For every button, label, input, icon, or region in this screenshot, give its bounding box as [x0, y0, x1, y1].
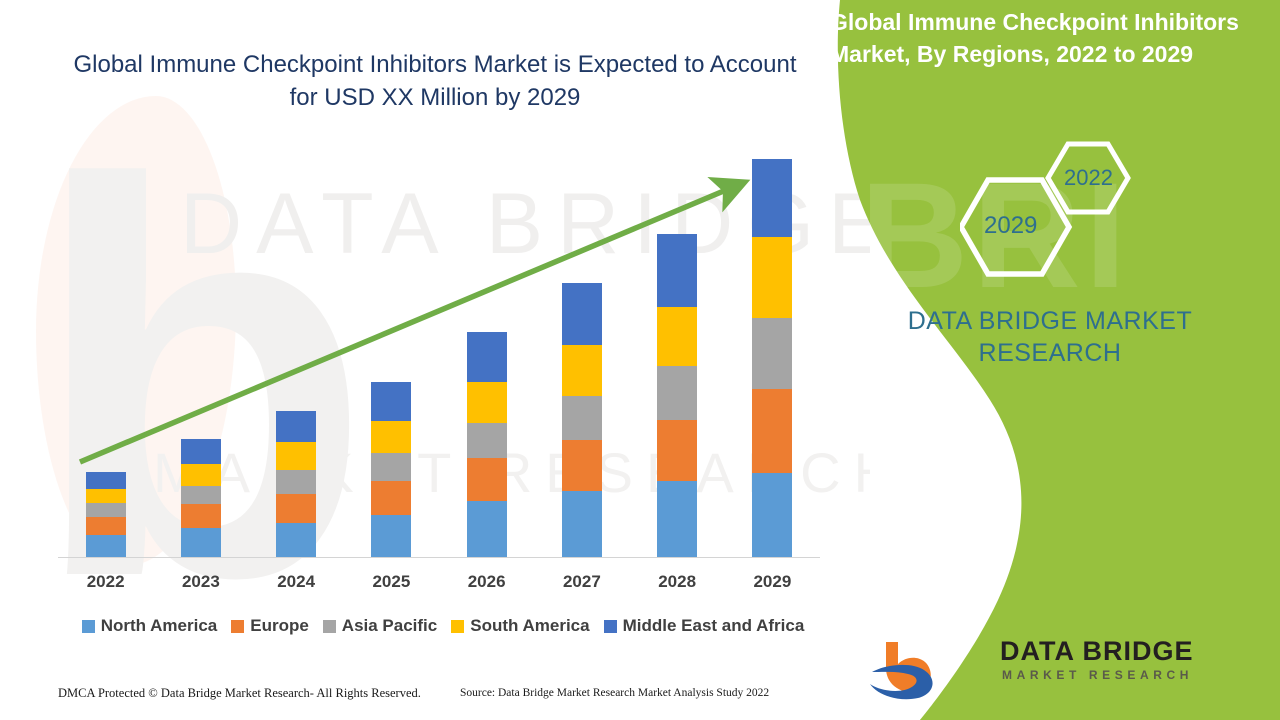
x-label-2027: 2027	[542, 572, 622, 592]
bar-2026[interactable]	[467, 332, 507, 559]
legend-swatch-icon	[231, 620, 244, 633]
x-label-2022: 2022	[66, 572, 146, 592]
segment-middle-east-and-africa[interactable]	[371, 382, 411, 421]
legend-label: North America	[101, 616, 218, 636]
segment-north-america[interactable]	[467, 501, 507, 558]
segment-asia-pacific[interactable]	[467, 423, 507, 458]
legend-swatch-icon	[82, 620, 95, 633]
legend-label: Europe	[250, 616, 309, 636]
segment-north-america[interactable]	[86, 535, 126, 558]
x-axis-line	[58, 557, 820, 558]
legend-swatch-icon	[451, 620, 464, 633]
panel-title: Global Immune Checkpoint Inhibitors Mark…	[830, 6, 1280, 70]
segment-south-america[interactable]	[467, 382, 507, 423]
segment-europe[interactable]	[371, 481, 411, 515]
x-label-2025: 2025	[351, 572, 431, 592]
segment-middle-east-and-africa[interactable]	[752, 159, 792, 237]
segment-asia-pacific[interactable]	[657, 366, 697, 420]
x-label-2023: 2023	[161, 572, 241, 592]
bar-2029[interactable]	[752, 159, 792, 558]
bar-2028[interactable]	[657, 234, 697, 558]
chart-legend: North AmericaEuropeAsia PacificSouth Ame…	[58, 616, 828, 636]
legend-item-north-america[interactable]: North America	[82, 616, 218, 636]
x-label-2026: 2026	[447, 572, 527, 592]
segment-asia-pacific[interactable]	[371, 453, 411, 481]
segment-middle-east-and-africa[interactable]	[181, 439, 221, 464]
legend-item-south-america[interactable]: South America	[451, 616, 589, 636]
segment-middle-east-and-africa[interactable]	[86, 472, 126, 489]
logo-mark	[864, 638, 994, 700]
segment-south-america[interactable]	[276, 442, 316, 470]
x-axis-labels: 20222023202420252026202720282029	[58, 572, 820, 600]
segment-europe[interactable]	[86, 517, 126, 535]
footer-copyright: DMCA Protected © Data Bridge Market Rese…	[58, 686, 421, 701]
segment-north-america[interactable]	[276, 523, 316, 558]
legend-label: Asia Pacific	[342, 616, 437, 636]
footer-source: Source: Data Bridge Market Research Mark…	[460, 687, 769, 699]
segment-europe[interactable]	[276, 494, 316, 523]
x-label-2028: 2028	[637, 572, 717, 592]
segment-europe[interactable]	[562, 440, 602, 492]
segment-middle-east-and-africa[interactable]	[562, 283, 602, 345]
segment-south-america[interactable]	[371, 421, 411, 453]
segment-south-america[interactable]	[181, 464, 221, 487]
segment-europe[interactable]	[181, 504, 221, 528]
legend-label: South America	[470, 616, 589, 636]
bar-2022[interactable]	[86, 472, 126, 558]
legend-item-middle-east-and-africa[interactable]: Middle East and Africa	[604, 616, 805, 636]
legend-swatch-icon	[323, 620, 336, 633]
segment-north-america[interactable]	[562, 491, 602, 558]
bar-2027[interactable]	[562, 283, 602, 558]
bar-2024[interactable]	[276, 411, 316, 558]
segment-middle-east-and-africa[interactable]	[276, 411, 316, 442]
segment-europe[interactable]	[752, 389, 792, 473]
segment-south-america[interactable]	[657, 307, 697, 366]
logo-tagline: MARKET RESEARCH	[1002, 668, 1262, 682]
x-label-2029: 2029	[732, 572, 812, 592]
hexagon-outlines	[960, 140, 1160, 280]
segment-south-america[interactable]	[562, 345, 602, 395]
brand-name: DATA BRIDGE MARKET RESEARCH	[850, 305, 1250, 369]
legend-item-asia-pacific[interactable]: Asia Pacific	[323, 616, 437, 636]
segment-north-america[interactable]	[371, 515, 411, 558]
segment-south-america[interactable]	[752, 237, 792, 318]
legend-swatch-icon	[604, 620, 617, 633]
segment-asia-pacific[interactable]	[181, 486, 221, 504]
segment-asia-pacific[interactable]	[276, 470, 316, 494]
segment-north-america[interactable]	[657, 481, 697, 558]
hexagon-2022-label: 2022	[1064, 165, 1113, 191]
hexagon-badges: 2022 2029	[960, 140, 1160, 280]
segment-asia-pacific[interactable]	[752, 318, 792, 390]
logo-wordmark: DATA BRIDGE	[1000, 636, 1260, 667]
legend-label: Middle East and Africa	[623, 616, 805, 636]
segment-europe[interactable]	[467, 458, 507, 501]
segment-asia-pacific[interactable]	[86, 503, 126, 517]
segment-north-america[interactable]	[752, 473, 792, 558]
segment-north-america[interactable]	[181, 528, 221, 558]
segment-middle-east-and-africa[interactable]	[657, 234, 697, 307]
segment-south-america[interactable]	[86, 489, 126, 503]
legend-item-europe[interactable]: Europe	[231, 616, 309, 636]
segment-asia-pacific[interactable]	[562, 396, 602, 440]
bar-2023[interactable]	[181, 439, 221, 558]
brand-panel: BRI Global Immune Checkpoint Inhibitors …	[820, 0, 1280, 720]
x-label-2024: 2024	[256, 572, 336, 592]
stacked-bar-plot	[58, 150, 820, 558]
company-logo: DATA BRIDGE MARKET RESEARCH	[864, 638, 1264, 700]
chart-panel: b DATA BRIDGE MARKET RESEARCH Global Imm…	[0, 0, 870, 720]
hexagon-2029-label: 2029	[984, 212, 1037, 240]
chart-title: Global Immune Checkpoint Inhibitors Mark…	[70, 48, 800, 114]
segment-europe[interactable]	[657, 420, 697, 481]
bar-2025[interactable]	[371, 382, 411, 558]
segment-middle-east-and-africa[interactable]	[467, 332, 507, 382]
